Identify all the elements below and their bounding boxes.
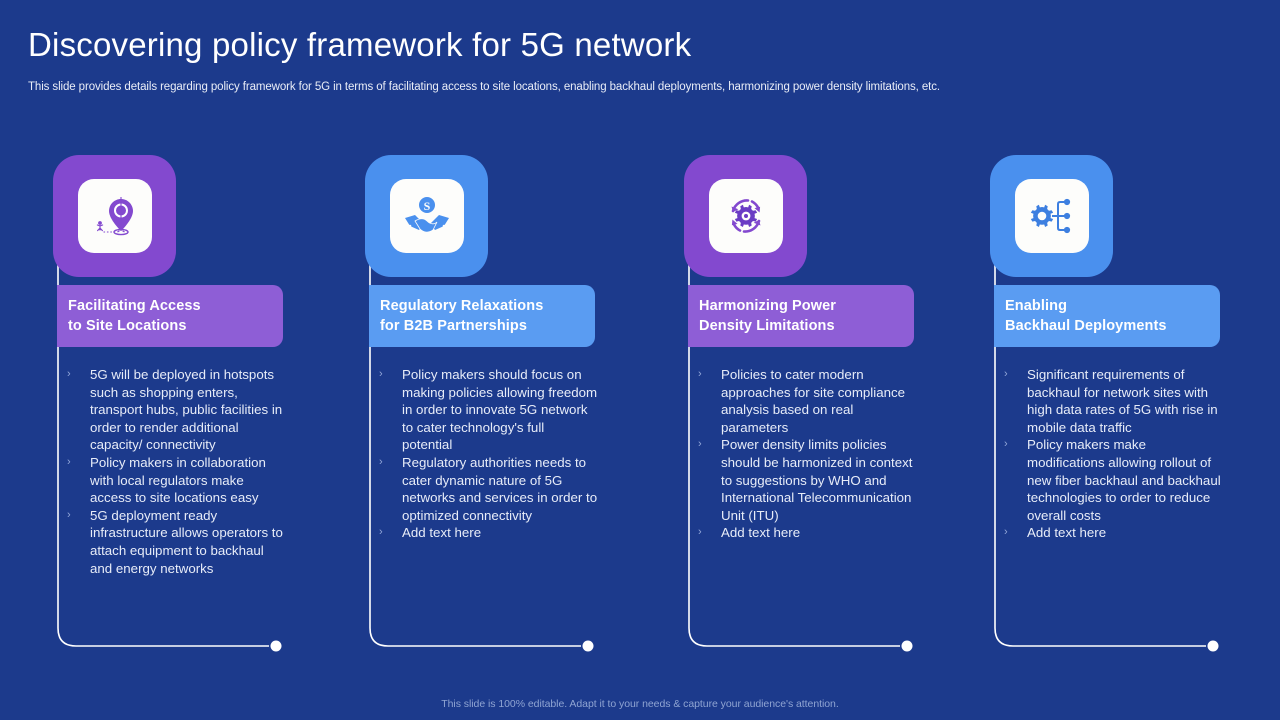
card-title: Harmonizing Power Density Limitations xyxy=(688,285,914,347)
card-title: Enabling Backhaul Deployments xyxy=(994,285,1220,347)
list-item: ›5G deployment ready infrastructure allo… xyxy=(62,507,286,577)
card-title-line2: Density Limitations xyxy=(699,318,835,334)
list-item: ›Policy makers make modifications allowi… xyxy=(999,436,1223,524)
card-facilitating-access[interactable]: Facilitating Access to Site Locations ›5… xyxy=(53,148,343,660)
list-item-text: Regulatory authorities needs to cater dy… xyxy=(402,455,597,523)
card-bullet-list: ›Significant requirements of backhaul fo… xyxy=(999,366,1223,542)
chevron-right-icon: › xyxy=(67,507,71,525)
chevron-right-icon: › xyxy=(698,436,702,454)
list-item-text: Policy makers in collaboration with loca… xyxy=(90,455,266,505)
chevron-right-icon: › xyxy=(698,366,702,384)
card-enabling-backhaul[interactable]: Enabling Backhaul Deployments ›Significa… xyxy=(990,148,1280,660)
footer-note: This slide is 100% editable. Adapt it to… xyxy=(0,698,1280,710)
list-item: ›Add text here xyxy=(693,524,917,542)
card-icon-tile xyxy=(53,155,176,277)
gear-cycle-icon xyxy=(709,179,783,253)
list-item-text: Add text here xyxy=(721,525,800,540)
list-item-text: Add text here xyxy=(1027,525,1106,540)
chevron-right-icon: › xyxy=(67,366,71,384)
list-item-text: 5G will be deployed in hotspots such as … xyxy=(90,367,282,452)
card-title-line2: to Site Locations xyxy=(68,318,187,334)
card-title-line1: Enabling xyxy=(1005,298,1067,314)
chevron-right-icon: › xyxy=(379,366,383,384)
card-icon-tile xyxy=(684,155,807,277)
card-title-line2: for B2B Partnerships xyxy=(380,318,527,334)
list-item: ›5G will be deployed in hotspots such as… xyxy=(62,366,286,454)
card-bullet-list: ›Policies to cater modern approaches for… xyxy=(693,366,917,542)
card-title-line1: Facilitating Access xyxy=(68,298,201,314)
handshake-money-icon: S xyxy=(390,179,464,253)
list-item-text: 5G deployment ready infrastructure allow… xyxy=(90,508,283,576)
chevron-right-icon: › xyxy=(67,454,71,472)
list-item-text: Policy makers should focus on making pol… xyxy=(402,367,597,452)
list-item: ›Power density limits policies should be… xyxy=(693,436,917,524)
list-item-text: Significant requirements of backhaul for… xyxy=(1027,367,1218,435)
card-bullet-list: ›Policy makers should focus on making po… xyxy=(374,366,598,542)
card-regulatory-relaxations[interactable]: S Regulatory Relaxations for B2B Partner… xyxy=(365,148,655,660)
list-item: ›Regulatory authorities needs to cater d… xyxy=(374,454,598,524)
page-title: Discovering policy framework for 5G netw… xyxy=(28,26,691,64)
card-icon-tile xyxy=(990,155,1113,277)
chevron-right-icon: › xyxy=(1004,524,1008,542)
list-item: ›Add text here xyxy=(999,524,1223,542)
chevron-right-icon: › xyxy=(379,454,383,472)
list-item-text: Policy makers make modifications allowin… xyxy=(1027,437,1221,522)
svg-text:S: S xyxy=(423,199,430,213)
gear-network-icon xyxy=(1015,179,1089,253)
location-pin-icon xyxy=(78,179,152,253)
card-title-line1: Regulatory Relaxations xyxy=(380,298,543,314)
chevron-right-icon: › xyxy=(1004,436,1008,454)
page-subtitle: This slide provides details regarding po… xyxy=(28,81,940,93)
cards-container: Facilitating Access to Site Locations ›5… xyxy=(0,148,1280,660)
list-item-text: Power density limits policies should be … xyxy=(721,437,912,522)
card-bullet-list: ›5G will be deployed in hotspots such as… xyxy=(62,366,286,577)
card-title-line2: Backhaul Deployments xyxy=(1005,318,1167,334)
list-item: ›Policy makers should focus on making po… xyxy=(374,366,598,454)
list-item-text: Policies to cater modern approaches for … xyxy=(721,367,905,435)
chevron-right-icon: › xyxy=(1004,366,1008,384)
list-item: ›Significant requirements of backhaul fo… xyxy=(999,366,1223,436)
list-item-text: Add text here xyxy=(402,525,481,540)
card-icon-tile: S xyxy=(365,155,488,277)
card-title-line1: Harmonizing Power xyxy=(699,298,836,314)
card-title: Regulatory Relaxations for B2B Partnersh… xyxy=(369,285,595,347)
chevron-right-icon: › xyxy=(698,524,702,542)
card-title: Facilitating Access to Site Locations xyxy=(57,285,283,347)
chevron-right-icon: › xyxy=(379,524,383,542)
list-item: ›Policy makers in collaboration with loc… xyxy=(62,454,286,507)
list-item: ›Add text here xyxy=(374,524,598,542)
card-harmonizing-power[interactable]: Harmonizing Power Density Limitations ›P… xyxy=(684,148,974,660)
list-item: ›Policies to cater modern approaches for… xyxy=(693,366,917,436)
